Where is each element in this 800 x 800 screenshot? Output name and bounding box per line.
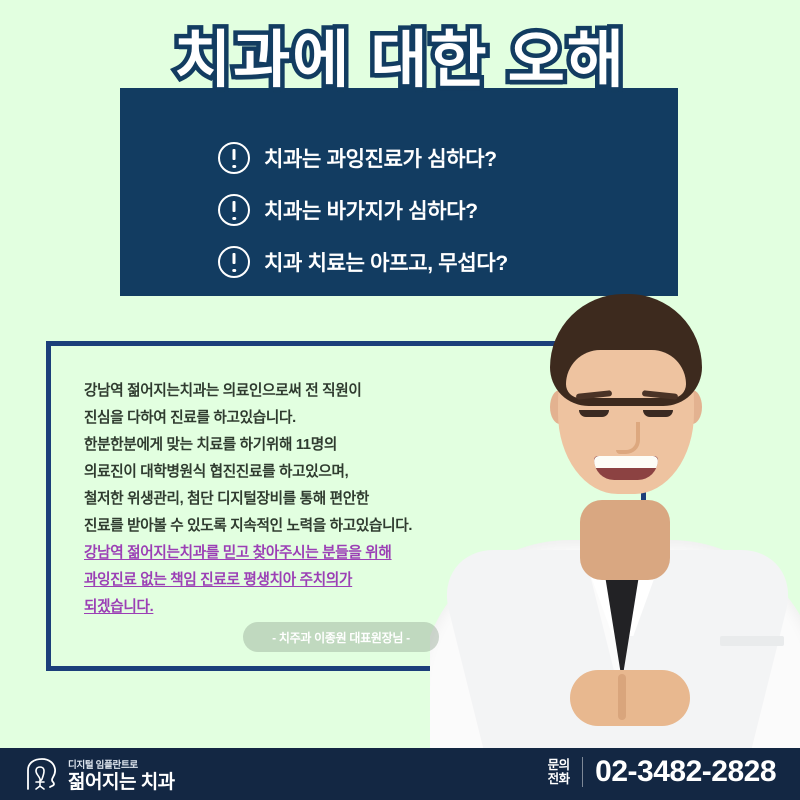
eye-right <box>643 410 673 417</box>
mouth-shape <box>594 456 658 480</box>
exclamation-circle-icon <box>218 142 250 174</box>
phone-label: 문의 전화 <box>548 758 582 786</box>
teeth-shape <box>594 456 658 468</box>
body-line: 의료진이 대학병원식 협진진료를 하고있으며, <box>84 459 504 486</box>
contact-phone[interactable]: 문의 전화 02-3482-2828 <box>548 757 776 787</box>
bullet-label: 치과는 바가지가 심하다? <box>264 195 478 225</box>
body-line: 강남역 젊어지는치과는 의료인으로써 전 직원이 <box>84 378 504 405</box>
clinic-logo[interactable]: 디지털 임플란트로 젊어지는 치과 <box>22 756 175 797</box>
body-line: 진료를 받아볼 수 있도록 지속적인 노력을 하고있습니다. <box>84 513 504 540</box>
page-title: 치과에 대한 오해 <box>0 30 800 92</box>
exclamation-circle-icon <box>218 246 250 278</box>
body-line: 진심을 다하여 진료를 하고있습니다. <box>84 405 504 432</box>
neck-shape <box>580 500 670 580</box>
phone-label-line2: 전화 <box>548 772 570 786</box>
phone-label-line1: 문의 <box>548 758 570 772</box>
logo-tagline: 디지털 임플란트로 <box>68 761 175 771</box>
logo-name: 젊어지는 치과 <box>68 773 175 792</box>
poster-canvas: 치과에 대한 오해 치과는 과잉진료가 심하다? 치과는 바가지가 심하다? 치… <box>0 0 800 800</box>
signature-badge: - 치주과 이종원 대표원장님 - <box>243 622 439 652</box>
list-item: 치과 치료는 아프고, 무섭다? <box>218 238 678 286</box>
hands-shape <box>570 670 690 726</box>
hair-shape <box>550 294 702 406</box>
list-item: 치과는 과잉진료가 심하다? <box>218 134 678 182</box>
bullet-label: 치과는 과잉진료가 심하다? <box>264 143 497 173</box>
body-line-accent: 강남역 젊어지는치과를 믿고 찾아주시는 분들을 위해 <box>84 540 504 567</box>
bullet-label: 치과 치료는 아프고, 무섭다? <box>264 247 508 277</box>
phone-number[interactable]: 02-3482-2828 <box>595 757 776 787</box>
eye-left <box>579 410 609 417</box>
head-profile-tooth-icon <box>22 756 60 797</box>
coat-pocket <box>720 636 784 646</box>
body-line-accent: 과잉진료 없는 책임 진료로 평생치아 주치의가 <box>84 567 504 594</box>
list-item: 치과는 바가지가 심하다? <box>218 186 678 234</box>
body-line: 한분한분에게 맞는 치료를 하기위해 11명의 <box>84 432 504 459</box>
exclamation-circle-icon <box>218 194 250 226</box>
body-line-accent: 되겠습니다. <box>84 594 504 621</box>
vertical-divider <box>582 757 584 787</box>
footer-bar: 디지털 임플란트로 젊어지는 치과 문의 전화 02-3482-2828 <box>0 748 800 800</box>
message-body: 강남역 젊어지는치과는 의료인으로써 전 직원이 진심을 다하여 진료를 하고있… <box>84 378 504 621</box>
myth-bullet-list: 치과는 과잉진료가 심하다? 치과는 바가지가 심하다? 치과 치료는 아프고,… <box>120 134 678 290</box>
nose-shape <box>616 422 640 454</box>
logo-text-group: 디지털 임플란트로 젊어지는 치과 <box>68 761 175 793</box>
body-line: 철저한 위생관리, 첨단 디지털장비를 통해 편안한 <box>84 486 504 513</box>
